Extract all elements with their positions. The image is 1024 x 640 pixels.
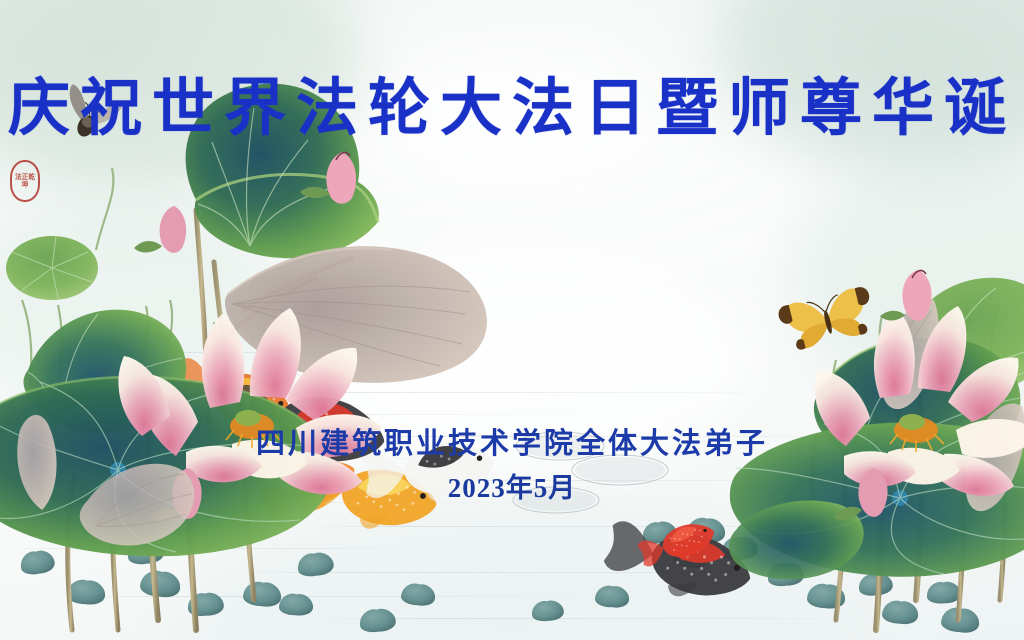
pond-stone <box>19 549 56 576</box>
date-stamp: 2023年5月 <box>0 466 1024 505</box>
pond-stone <box>926 581 961 604</box>
pond-stone <box>400 582 436 607</box>
lotus-leaf-small-left <box>6 236 98 300</box>
pond-stone <box>359 607 397 633</box>
red-seal-stamp: 法正乾坤 <box>10 160 40 202</box>
pond-stone <box>531 599 565 622</box>
page-title: 庆祝世界法轮大法日暨师尊华诞 <box>0 78 1024 140</box>
lotus-poster: 庆祝世界法轮大法日暨师尊华诞 法正乾坤 四川建筑职业技术学院全体大法弟子 202… <box>0 0 1024 640</box>
seal-text: 法正乾坤 <box>13 173 38 188</box>
byline-organization: 四川建筑职业技术学院全体大法弟子 <box>0 420 1024 462</box>
pond-stone <box>139 569 181 599</box>
left-lotus-cluster <box>0 84 487 630</box>
pond-stone <box>595 585 630 609</box>
butterfly-icon <box>777 285 878 353</box>
pond-stone <box>296 551 335 578</box>
pond-stone <box>242 580 282 607</box>
pond-stone <box>66 579 106 606</box>
pond-stone <box>279 593 314 616</box>
pond-stone <box>881 599 919 625</box>
lotus-bud-left-mid <box>134 206 186 253</box>
